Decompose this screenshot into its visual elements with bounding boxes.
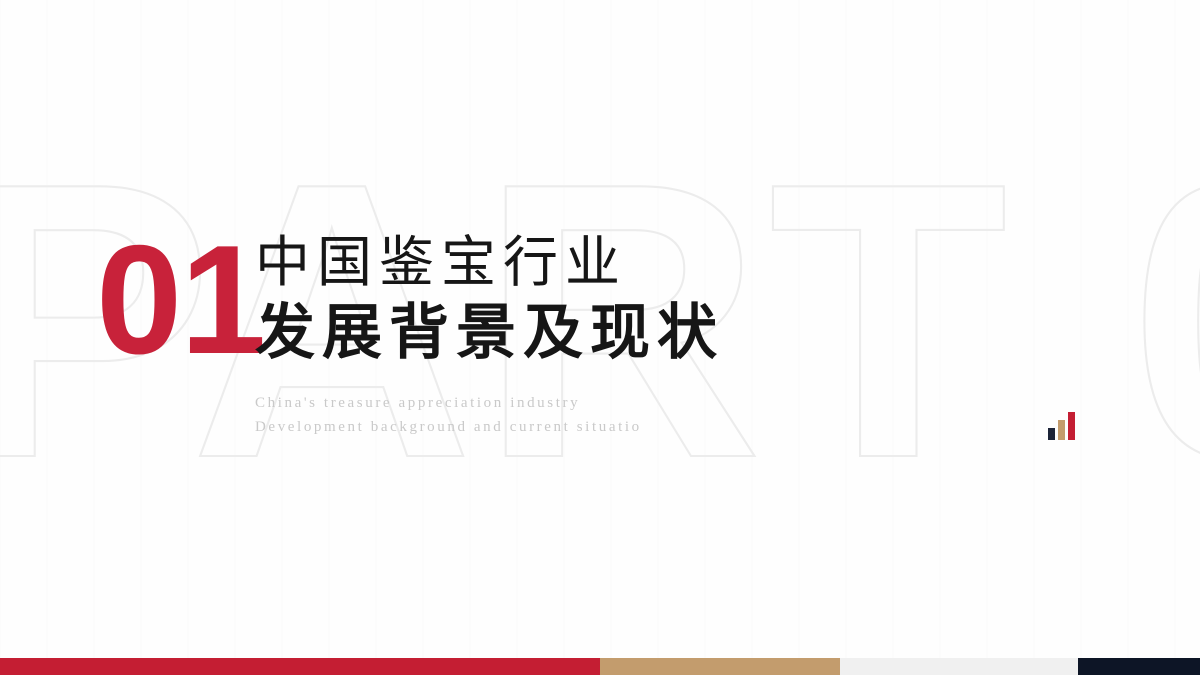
- footer-segment-gray: [840, 658, 1078, 675]
- title-line-2: 发展背景及现状: [255, 297, 895, 369]
- subtitle-line-2: Development background and current situa…: [255, 415, 895, 439]
- subtitle-line-1: China's treasure appreciation industry: [255, 391, 895, 415]
- bar-chart-icon-bar-3: [1068, 412, 1075, 440]
- subtitle-block: China's treasure appreciation industry D…: [255, 391, 895, 439]
- title-line-1: 中国鉴宝行业: [255, 230, 895, 295]
- bar-chart-icon-bar-2: [1058, 420, 1065, 440]
- bar-chart-icon-bar-1: [1048, 428, 1055, 440]
- bar-chart-icon: [1048, 410, 1082, 440]
- footer-segment-red: [0, 658, 600, 675]
- footer-segment-navy: [1078, 658, 1200, 675]
- footer-segment-gold: [600, 658, 840, 675]
- section-divider-slide: PART 01 01 中国鉴宝行业 发展背景及现状 China's treasu…: [0, 0, 1200, 675]
- title-block: 中国鉴宝行业 发展背景及现状 China's treasure apprecia…: [255, 230, 895, 439]
- footer-color-bar: [0, 658, 1200, 675]
- section-number: 01: [96, 222, 264, 377]
